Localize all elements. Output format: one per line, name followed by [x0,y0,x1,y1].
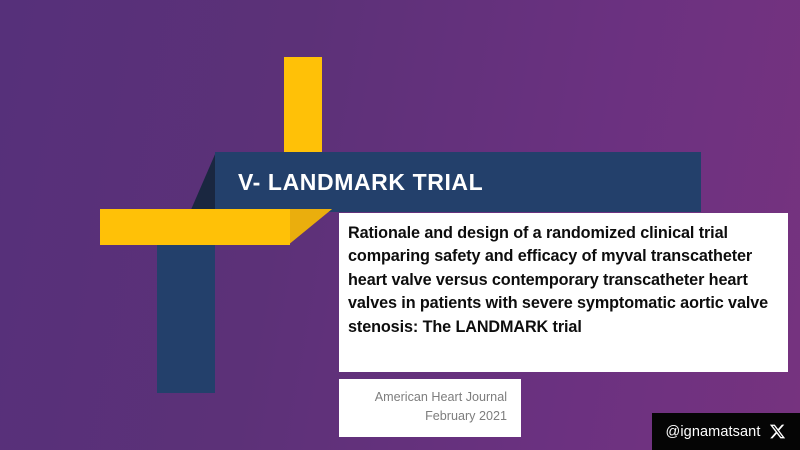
slide-title: V- LANDMARK TRIAL [238,169,483,196]
yellow-bar-highlight-bevel [288,209,332,245]
abstract-title-text: Rationale and design of a randomized cli… [348,222,778,339]
journal-name: American Heart Journal [339,388,507,407]
decorative-yellow-horizontal-bar [100,209,290,245]
journal-date: February 2021 [339,407,507,426]
title-banner-bevel [190,152,216,212]
title-banner: V- LANDMARK TRIAL [215,152,701,212]
journal-citation-card: American Heart Journal February 2021 [339,379,521,437]
abstract-title-card: Rationale and design of a randomized cli… [339,213,788,372]
watermark-bar: @ignamatsant [652,413,800,450]
x-twitter-icon [769,423,786,440]
presentation-slide: V- LANDMARK TRIAL Rationale and design o… [0,0,800,450]
watermark-handle: @ignamatsant [666,424,761,440]
